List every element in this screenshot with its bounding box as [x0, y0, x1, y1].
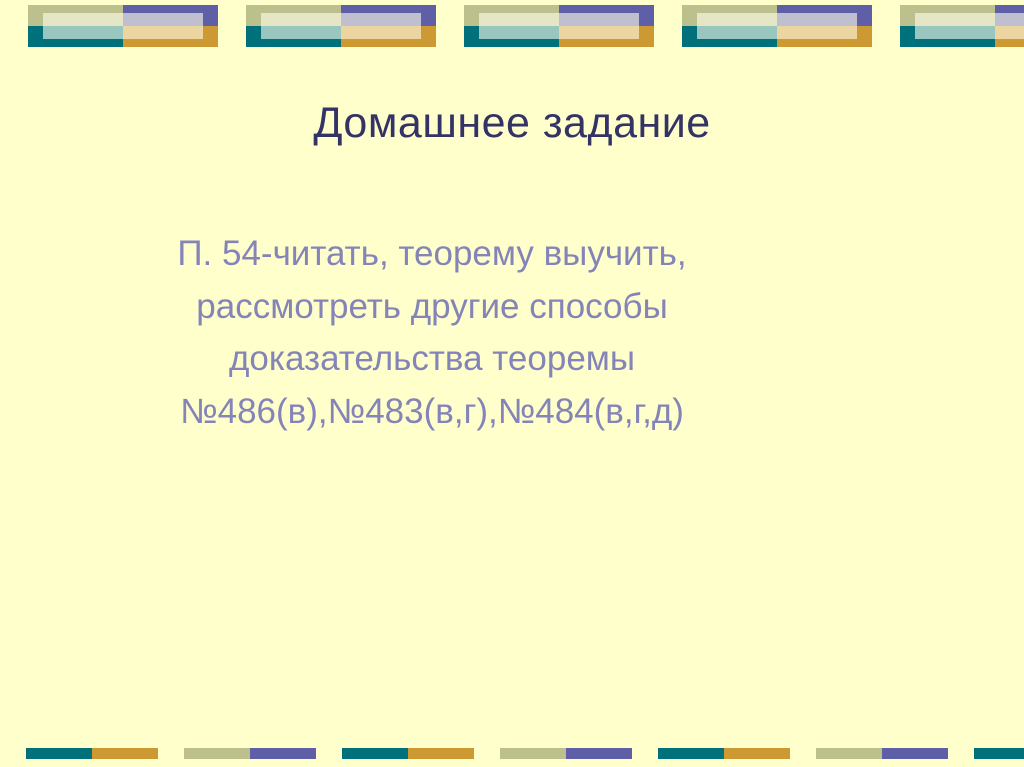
bar-segment-purple-icon [566, 748, 632, 759]
bar-segment-teal-icon [342, 748, 408, 759]
bar-segment-purple-icon [882, 748, 948, 759]
body-line: доказательства теоремы [62, 333, 802, 386]
deco-overlay-icon [261, 13, 421, 38]
top-decorative-band [0, 0, 1024, 52]
bar-group [184, 748, 316, 759]
bar-group [500, 748, 632, 759]
deco-block [246, 5, 436, 47]
page-title: Домашнее задание [0, 100, 1024, 147]
deco-block [682, 5, 872, 47]
slide-canvas: Домашнее задание П. 54-читать, теорему в… [0, 0, 1024, 767]
bar-group [658, 748, 790, 759]
slide-body-text: П. 54-читать, теорему выучить, рассмотре… [62, 228, 802, 438]
body-line: №486(в),№483(в,г),№484(в,г,д) [62, 386, 802, 439]
bar-group [342, 748, 474, 759]
bar-segment-gold-icon [92, 748, 158, 759]
bar-segment-teal-icon [26, 748, 92, 759]
body-line: П. 54-читать, теорему выучить, [62, 228, 802, 281]
deco-overlay-icon [915, 13, 1024, 38]
deco-block [28, 5, 218, 47]
bar-segment-sage-icon [816, 748, 882, 759]
bottom-decorative-bar [0, 747, 1024, 759]
bar-group [26, 748, 158, 759]
body-line: рассмотреть другие способы [62, 281, 802, 334]
deco-overlay-icon [697, 13, 857, 38]
bar-segment-gold-icon [408, 748, 474, 759]
bar-segment-sage-icon [184, 748, 250, 759]
bar-segment-teal-icon [658, 748, 724, 759]
bar-segment-sage-icon [500, 748, 566, 759]
bar-group [974, 748, 1024, 759]
bar-group [816, 748, 948, 759]
bar-segment-purple-icon [250, 748, 316, 759]
deco-overlay-icon [43, 13, 203, 38]
bar-segment-teal-icon [974, 748, 1024, 759]
deco-block [900, 5, 1024, 47]
bar-segment-gold-icon [724, 748, 790, 759]
deco-overlay-icon [479, 13, 639, 38]
deco-block [464, 5, 654, 47]
